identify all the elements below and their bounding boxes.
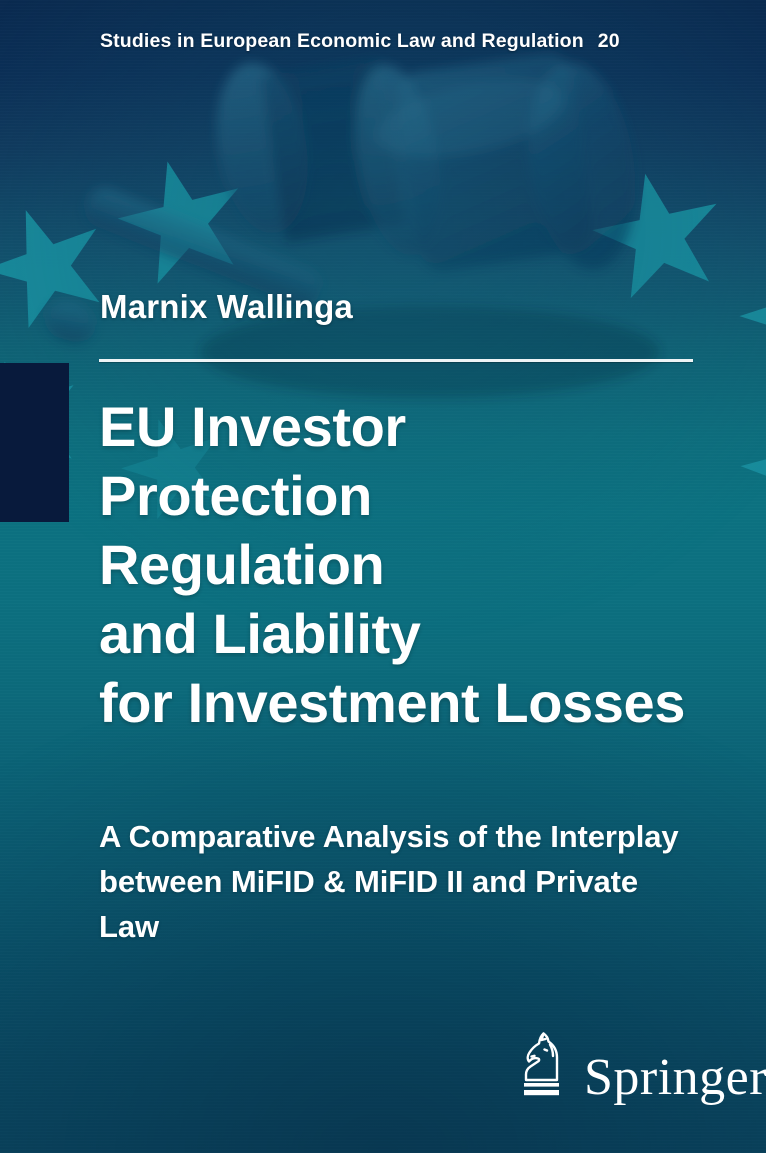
- series-volume-number: 20: [598, 30, 620, 52]
- book-cover: Studies in European Economic Law and Reg…: [0, 0, 766, 1153]
- book-subtitle-line: A Comparative Analysis of the Interplay: [99, 814, 739, 859]
- publisher-name: Springer: [584, 1052, 766, 1104]
- book-title-line: Protection: [99, 461, 739, 530]
- publisher-logo: Springer: [512, 1028, 766, 1100]
- springer-knight-icon: [512, 1028, 570, 1100]
- book-title-line: and Liability: [99, 599, 739, 668]
- book-title: EU Investor Protection Regulation and Li…: [99, 392, 739, 737]
- book-title-line: EU Investor: [99, 392, 739, 461]
- book-subtitle: A Comparative Analysis of the Interplay …: [99, 814, 739, 949]
- divider-rule: [99, 359, 693, 362]
- book-title-line: Regulation: [99, 530, 739, 599]
- book-title-line: for Investment Losses: [99, 668, 739, 737]
- book-subtitle-line: between MiFID & MiFID II and Private: [99, 859, 739, 904]
- book-subtitle-line: Law: [99, 904, 739, 949]
- spine-accent-block: [0, 363, 69, 522]
- series-title-text: Studies in European Economic Law and Reg…: [100, 30, 584, 52]
- author-name: Marnix Wallinga: [100, 288, 353, 326]
- series-title: Studies in European Economic Law and Reg…: [100, 30, 620, 53]
